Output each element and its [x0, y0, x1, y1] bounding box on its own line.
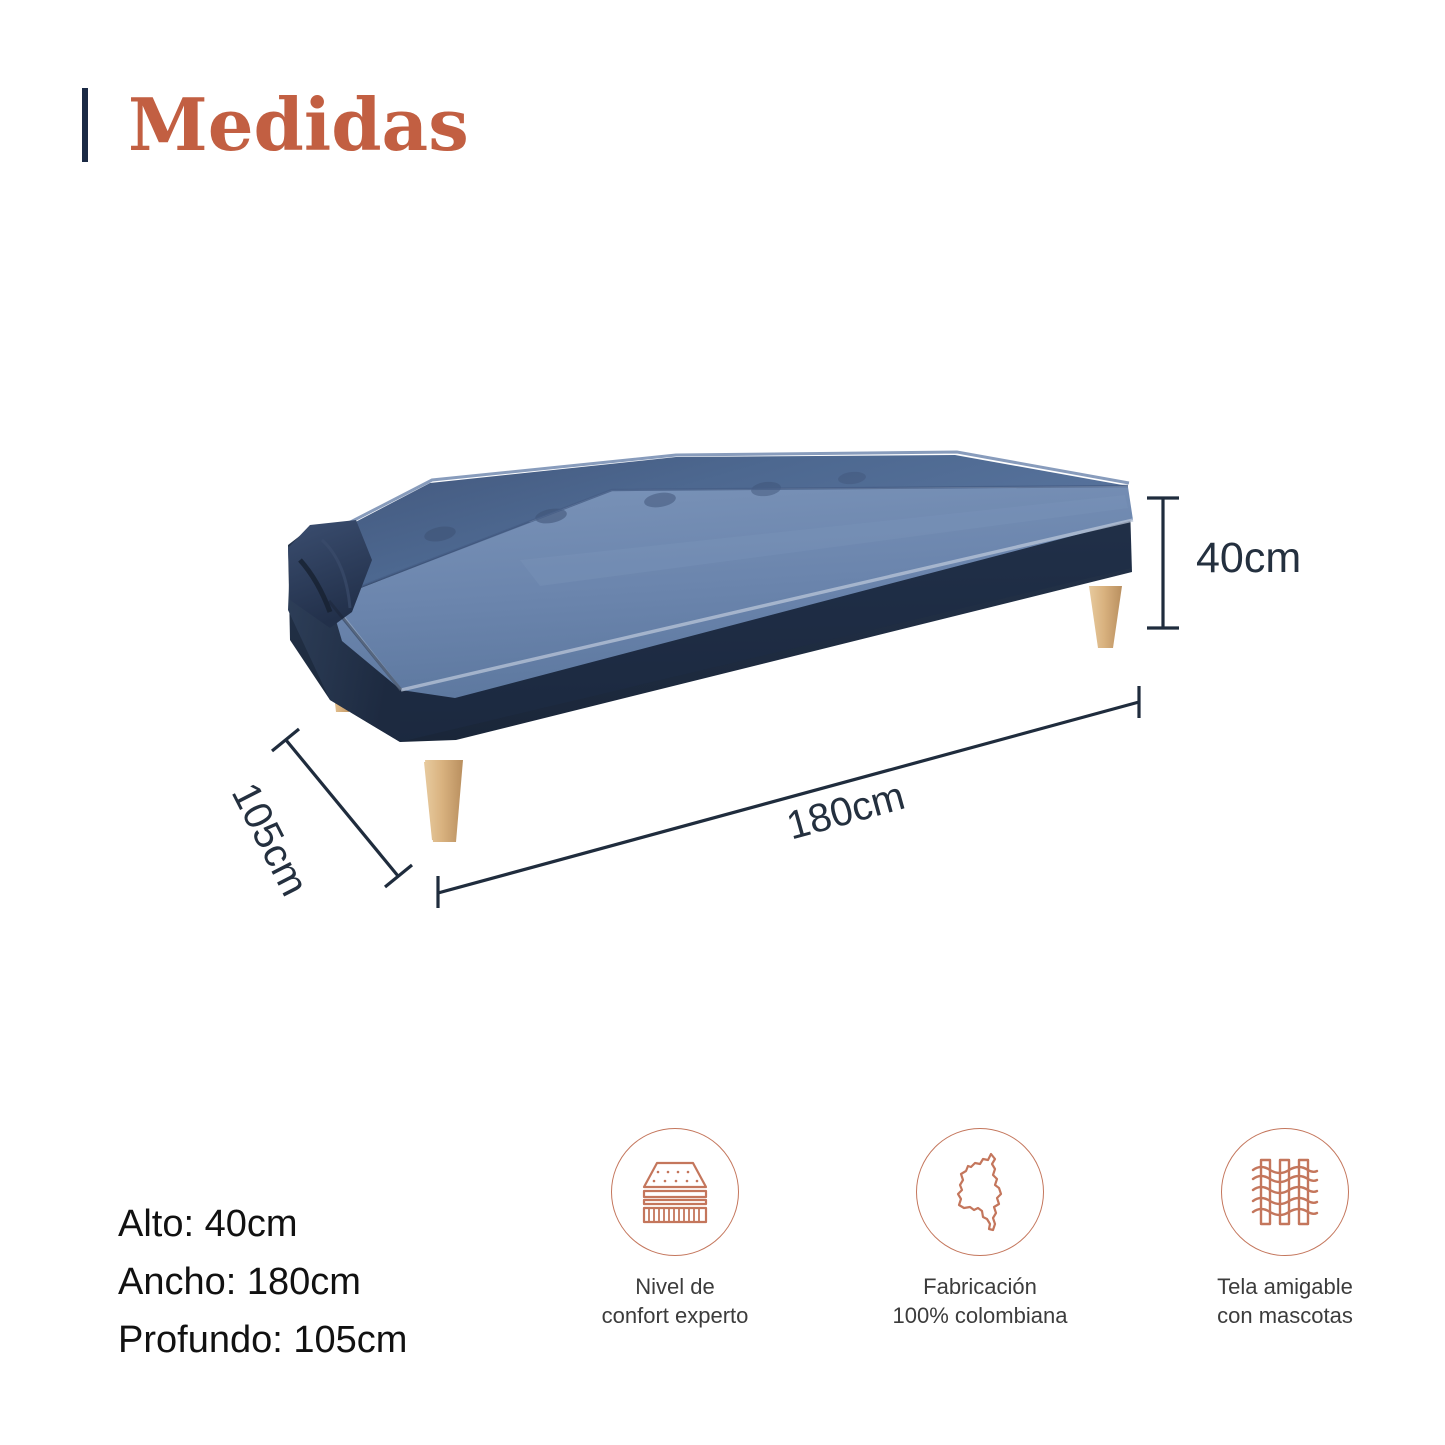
- feature-caption-line2: confort experto: [602, 1301, 749, 1330]
- dimension-width-line: [438, 686, 1139, 908]
- feature-caption-line1: Tela amigable: [1217, 1272, 1353, 1301]
- sofa-legs: [330, 590, 1121, 840]
- feature-caption-fabric: Tela amigable con mascotas: [1217, 1272, 1353, 1330]
- seat-piping: [401, 520, 1133, 690]
- fold-panel: [288, 520, 372, 628]
- dimension-height-line: [1147, 498, 1179, 628]
- feature-fabric: Tela amigable con mascotas: [1170, 1128, 1400, 1330]
- fold-crease: [300, 560, 330, 612]
- tuft-button: [534, 506, 568, 525]
- back-cushion-ridge: [300, 452, 1129, 548]
- sofa-base: [288, 505, 1132, 742]
- feature-caption-line1: Fabricación: [893, 1272, 1068, 1301]
- feature-caption-manufacturing: Fabricación 100% colombiana: [893, 1272, 1068, 1330]
- dimension-label-depth: 105cm: [222, 776, 317, 903]
- fold-crease-2: [322, 540, 350, 608]
- feature-circle-fabric: [1221, 1128, 1349, 1256]
- leg-right: [1090, 590, 1121, 646]
- dimension-label-width: 180cm: [782, 774, 910, 849]
- left-fold-detail: [288, 520, 401, 690]
- back-cushion-seam: [331, 486, 1128, 598]
- page-header: Medidas: [82, 88, 469, 162]
- spec-list: Alto: 40cm Ancho: 180cm Profundo: 105cm: [118, 1196, 407, 1369]
- seat-shade: [520, 495, 1128, 586]
- page-title: Medidas: [128, 89, 469, 161]
- title-accent-bar: [82, 88, 88, 162]
- feature-badges: Nivel de confort experto Fabricación 100…: [560, 1128, 1400, 1330]
- feature-circle-manufacturing: [916, 1128, 1044, 1256]
- fold-edge: [329, 601, 401, 690]
- tuft-button: [643, 491, 677, 510]
- seat-cushion: [330, 487, 1133, 698]
- tuft-button: [750, 480, 781, 498]
- dimension-label-height: 40cm: [1196, 534, 1301, 583]
- feature-circle-comfort: [611, 1128, 739, 1256]
- leg-front-left-visible: [425, 760, 463, 842]
- feature-caption-comfort: Nivel de confort experto: [602, 1272, 749, 1330]
- feature-caption-line1: Nivel de: [602, 1272, 749, 1301]
- spec-row-profundo: Profundo: 105cm: [118, 1312, 407, 1370]
- tuft-button: [837, 471, 866, 486]
- measurements-infographic: Medidas: [0, 0, 1445, 1445]
- colombia-map-icon: [947, 1150, 1013, 1234]
- feature-caption-line2: con mascotas: [1217, 1301, 1353, 1330]
- spec-row-alto: Alto: 40cm: [118, 1196, 407, 1254]
- sofa-legs-front: [425, 586, 1122, 842]
- mattress-layers-icon: [636, 1157, 714, 1227]
- back-cushion-folded: [296, 452, 1129, 598]
- leg-front-left: [424, 762, 462, 840]
- fabric-weave-icon: [1247, 1154, 1323, 1230]
- feature-caption-line2: 100% colombiana: [893, 1301, 1068, 1330]
- leg-right-visible: [1089, 586, 1122, 648]
- feature-comfort: Nivel de confort experto: [560, 1128, 790, 1330]
- seat-piping-left: [330, 600, 401, 690]
- dimension-lines: [272, 498, 1179, 908]
- base-body: [288, 505, 1132, 742]
- base-left-end: [288, 560, 400, 742]
- feature-manufacturing: Fabricación 100% colombiana: [865, 1128, 1095, 1330]
- base-front-face: [397, 517, 1131, 742]
- back-cushion-body: [296, 455, 1128, 598]
- leg-back-left: [330, 660, 352, 712]
- tuft-button: [423, 524, 457, 544]
- spec-row-ancho: Ancho: 180cm: [118, 1254, 407, 1312]
- seat-top: [330, 487, 1133, 698]
